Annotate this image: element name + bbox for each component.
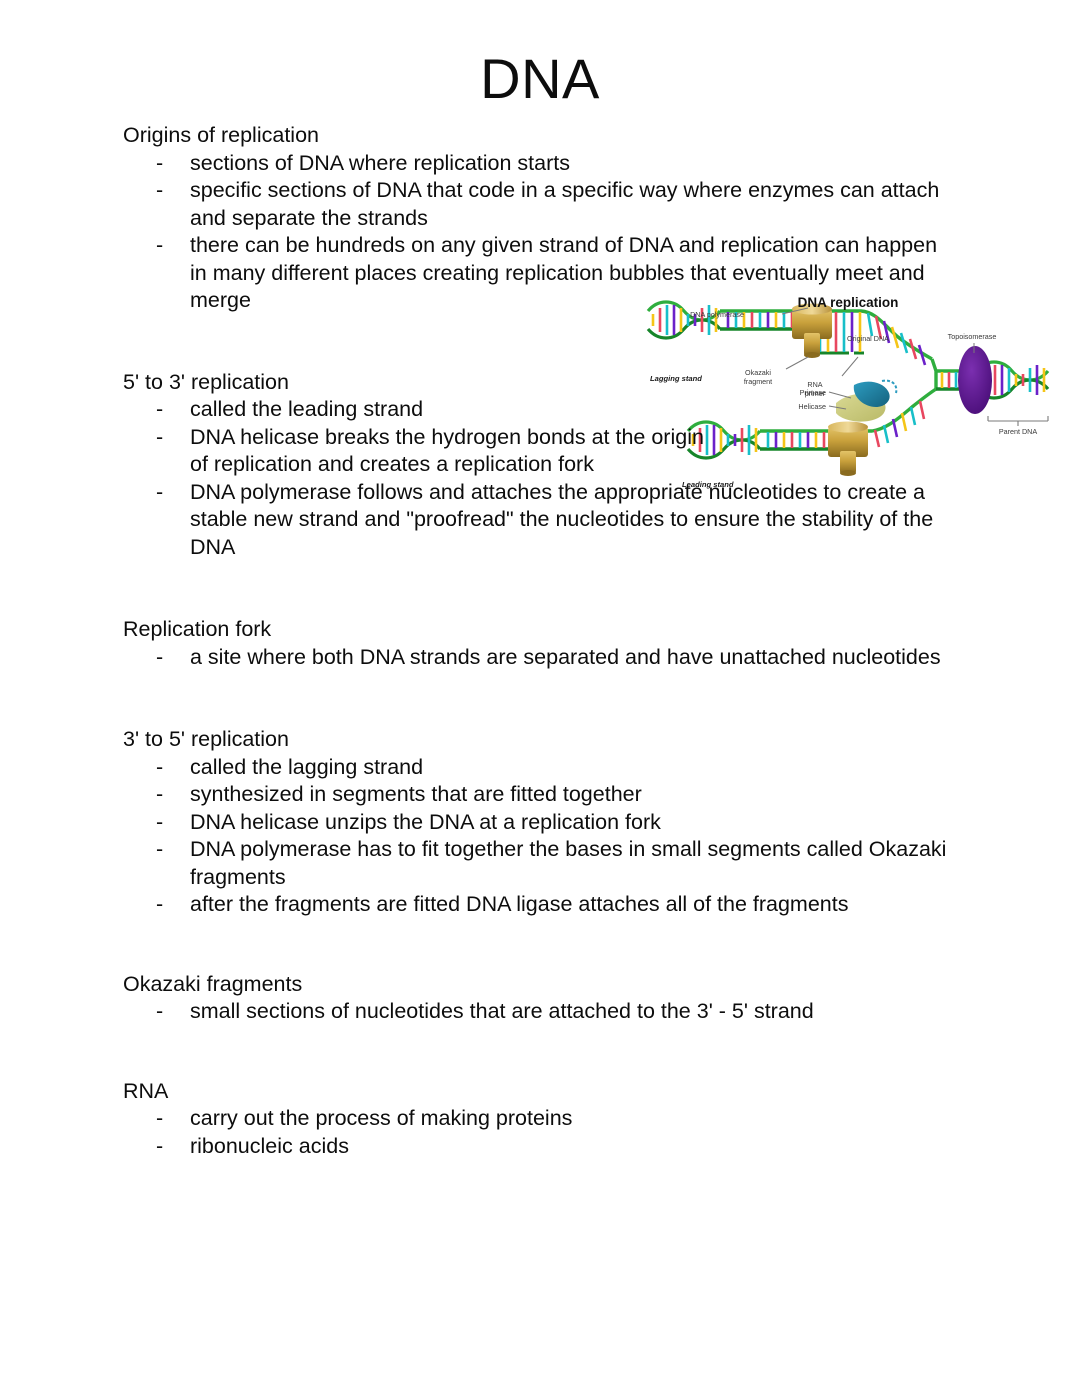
bullet-marker: - (156, 479, 163, 507)
section-heading: 5' to 3' replication (123, 369, 958, 397)
list-item-text: a site where both DNA strands are separa… (190, 644, 958, 672)
bullet-marker: - (156, 424, 163, 452)
bullet-marker: - (156, 1105, 163, 1133)
list-item: - ribonucleic acids (123, 1133, 958, 1161)
list-item-text: DNA helicase breaks the hydrogen bonds a… (190, 424, 715, 479)
section-heading: 3' to 5' replication (123, 726, 958, 754)
list-item: - DNA helicase unzips the DNA at a repli… (123, 809, 958, 837)
list-item: - called the leading strand (123, 396, 958, 424)
list-item-text: after the fragments are fitted DNA ligas… (190, 891, 958, 919)
section-heading: Okazaki fragments (123, 971, 958, 999)
list-item: - synthesized in segments that are fitte… (123, 781, 958, 809)
bullet-list: - small sections of nucleotides that are… (123, 998, 958, 1026)
document-page: DNA (0, 0, 1080, 1397)
section-spacer (123, 671, 958, 726)
bullet-marker: - (156, 781, 163, 809)
list-item: - after the fragments are fitted DNA lig… (123, 891, 958, 919)
label-parent-dna: Parent DNA (999, 427, 1038, 436)
bullet-list: - a site where both DNA strands are sepa… (123, 644, 958, 672)
section-5-to-3-replication: 5' to 3' replication - called the leadin… (123, 369, 958, 562)
section-replication-fork: Replication fork - a site where both DNA… (123, 616, 958, 671)
section-heading: Origins of replication (123, 122, 958, 150)
bullet-marker: - (156, 232, 163, 260)
list-item-text: specific sections of DNA that code in a … (190, 177, 958, 232)
list-item-text: there can be hundreds on any given stran… (190, 232, 958, 315)
bullet-marker: - (156, 150, 163, 178)
bullet-marker: - (156, 809, 163, 837)
notes-body: Origins of replication - sections of DNA… (123, 122, 958, 1160)
list-item-text: sections of DNA where replication starts (190, 150, 958, 178)
section-spacer (123, 1026, 958, 1078)
topoisomerase-shape (958, 346, 992, 414)
list-item: - DNA polymerase follows and attaches th… (123, 479, 958, 562)
bullet-list: - called the lagging strand - synthesize… (123, 754, 958, 919)
section-spacer (123, 561, 958, 616)
list-item: - sections of DNA where replication star… (123, 150, 958, 178)
bullet-marker: - (156, 836, 163, 864)
list-item-text: synthesized in segments that are fitted … (190, 781, 958, 809)
list-item-text: small sections of nucleotides that are a… (190, 998, 958, 1026)
section-3-to-5-replication: 3' to 5' replication - called the laggin… (123, 726, 958, 919)
section-rna: RNA - carry out the process of making pr… (123, 1078, 958, 1161)
section-heading: Replication fork (123, 616, 958, 644)
list-item: - DNA helicase breaks the hydrogen bonds… (123, 424, 958, 479)
list-item: - called the lagging strand (123, 754, 958, 782)
list-item-text: DNA polymerase has to fit together the b… (190, 836, 958, 891)
section-okazaki-fragments: Okazaki fragments - small sections of nu… (123, 971, 958, 1026)
list-item: - small sections of nucleotides that are… (123, 998, 958, 1026)
list-item-text: called the leading strand (190, 396, 715, 424)
bullet-list: - sections of DNA where replication star… (123, 150, 958, 315)
section-spacer (123, 315, 958, 369)
list-item: - a site where both DNA strands are sepa… (123, 644, 958, 672)
list-item-text: DNA helicase unzips the DNA at a replica… (190, 809, 958, 837)
section-spacer (123, 919, 958, 971)
list-item-text: ribonucleic acids (190, 1133, 958, 1161)
list-item: - there can be hundreds on any given str… (123, 232, 958, 315)
section-heading: RNA (123, 1078, 958, 1106)
list-item-text: called the lagging strand (190, 754, 958, 782)
bullet-marker: - (156, 177, 163, 205)
bullet-list: - called the leading strand - DNA helica… (123, 396, 958, 561)
page-title: DNA (0, 48, 1080, 110)
list-item-text: carry out the process of making proteins (190, 1105, 958, 1133)
list-item: - specific sections of DNA that code in … (123, 177, 958, 232)
bullet-marker: - (156, 396, 163, 424)
bullet-marker: - (156, 1133, 163, 1161)
bullet-list: - carry out the process of making protei… (123, 1105, 958, 1160)
list-item: - carry out the process of making protei… (123, 1105, 958, 1133)
bullet-marker: - (156, 754, 163, 782)
bullet-marker: - (156, 891, 163, 919)
list-item-text: DNA polymerase follows and attaches the … (190, 479, 958, 562)
section-origins-of-replication: Origins of replication - sections of DNA… (123, 122, 958, 315)
list-item: - DNA polymerase has to fit together the… (123, 836, 958, 891)
bullet-marker: - (156, 644, 163, 672)
bullet-marker: - (156, 998, 163, 1026)
